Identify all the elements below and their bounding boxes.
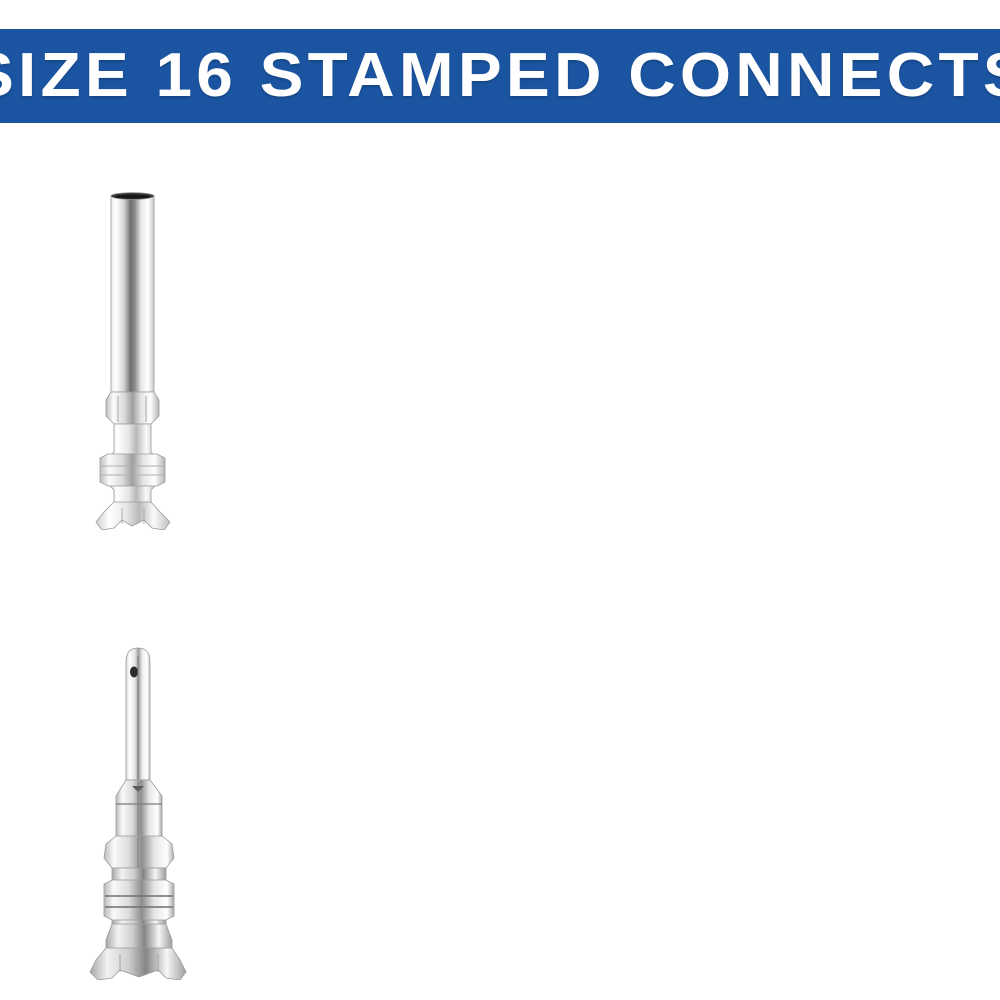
female-terminal-illustration <box>84 640 212 980</box>
spec-block-female: Product Female Terminal Size 20-14AWG Ma… <box>0 640 1000 968</box>
male-terminal-photo <box>0 190 290 520</box>
female-terminal-photo <box>0 640 290 968</box>
header-banner: SIZE 16 STAMPED CONNECTS <box>0 29 1000 123</box>
male-terminal-illustration <box>88 190 208 530</box>
spec-table-male: Product Male Terminal Size 20-14AWG Mate… <box>290 190 938 205</box>
spec-block-male: Product Male Terminal Size 20-14AWG Mate… <box>0 190 1000 520</box>
page-title: SIZE 16 STAMPED CONNECTS <box>0 45 1000 107</box>
spec-table-female: Product Female Terminal Size 20-14AWG Ma… <box>290 640 938 655</box>
